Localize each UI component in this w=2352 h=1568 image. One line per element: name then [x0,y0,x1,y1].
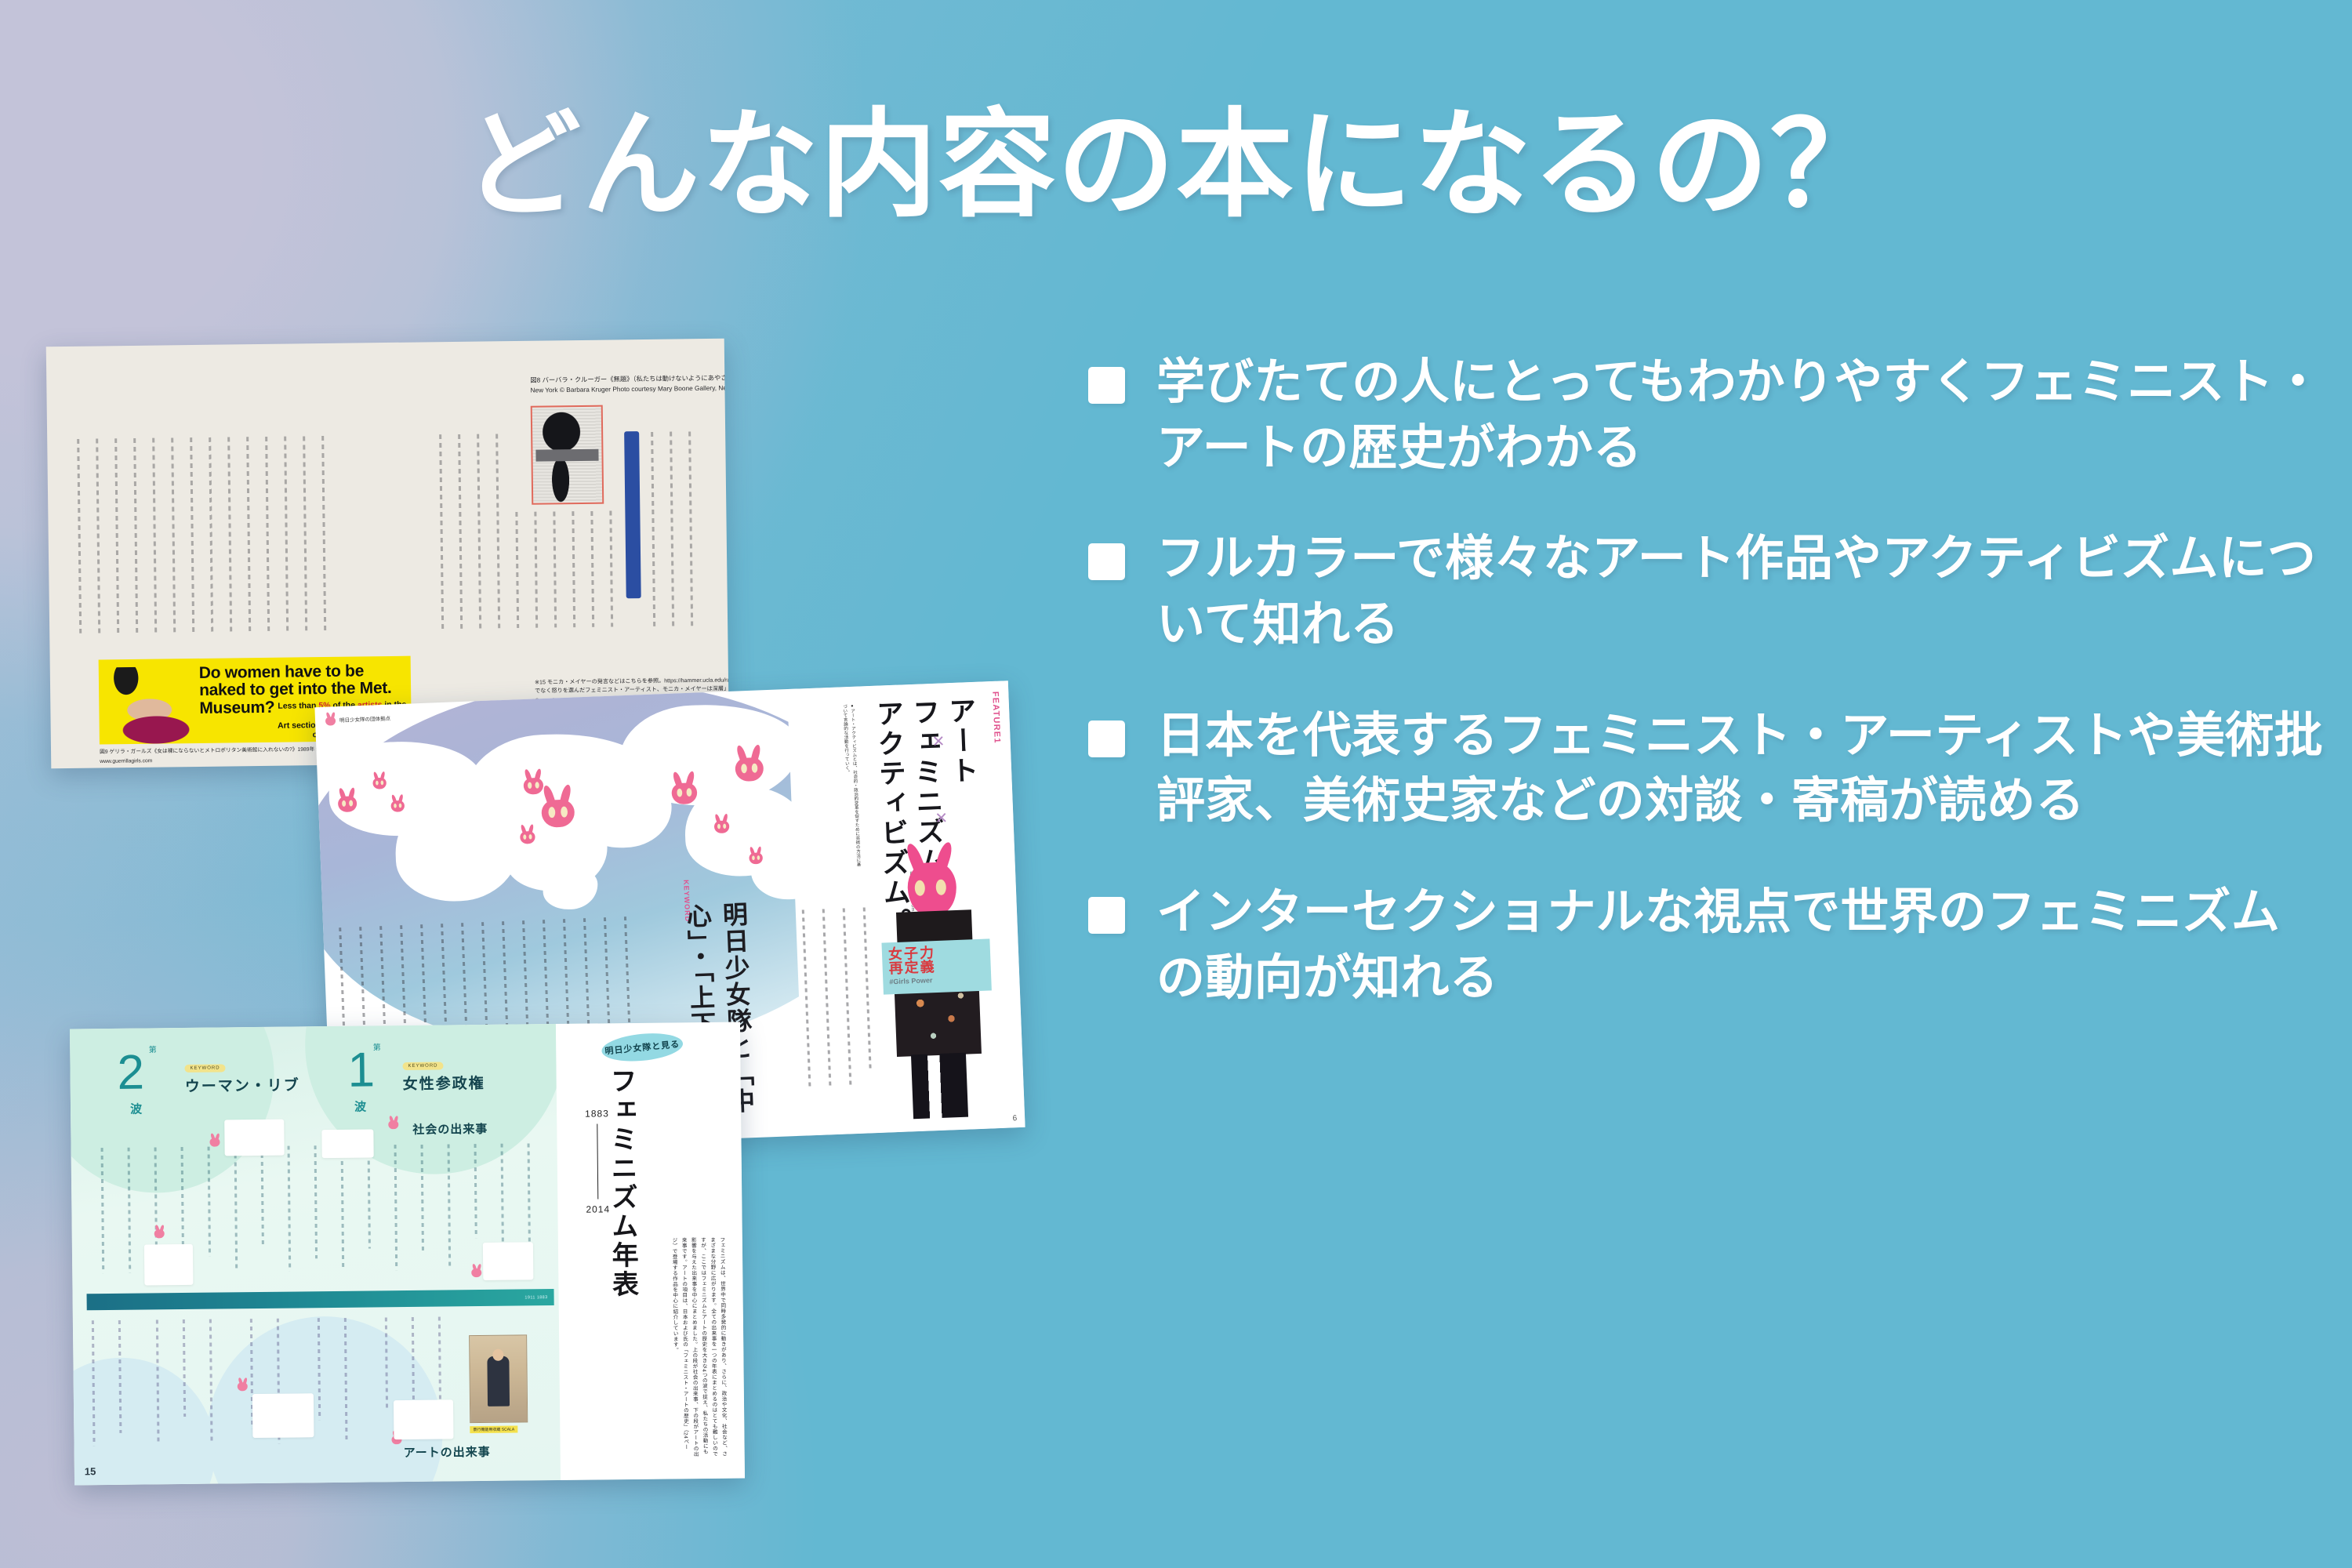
wave2-dai-label: 第 [145,1045,157,1053]
bullet-text: フルカラーで様々なアート作品やアクティビズムについて知れる [1156,526,2325,657]
axis-year-labels: 1911 1883 [524,1295,547,1300]
protest-placard: 女子力再定義 #Girls Power [881,938,991,994]
timeline-axis: 1911 1883 [87,1289,554,1310]
feature-cover-page: FEATURE1 アートフェミニズムアクティビズム。 × × ●アート・アクティ… [787,681,1025,1135]
bunny-marker-icon [668,773,701,808]
wave2-number: 2 [117,1052,144,1094]
list-item: 学びたての人にとってもわかりやすくフェミニスト・アートの歴史がわかる [1088,350,2335,481]
timeline-year-range: 1883 2014 [585,1108,610,1214]
kruger-artwork-image [531,405,604,505]
page-title: どんな内容の本になるの？ [0,100,2352,230]
subline-part-1: Less than [278,701,318,711]
timeline-left-page: 第 2 波 KEYWORD ウーマン・リブ 第 1 波 KEYWORD 女性参政… [70,1024,561,1485]
timeline-year-start: 1883 [585,1108,609,1119]
bullet-square-icon [1088,543,1125,580]
bunny-marker-icon [154,1225,165,1239]
timeline-right-page: 明日少女隊と見る フェミニズム年表 1883 2014 フェミニズムは、世界中で… [556,1022,745,1480]
bunny-marker-icon [517,826,537,847]
bunny-marker-icon [747,848,764,866]
timeline-year-end: 2014 [586,1203,610,1214]
slide-canvas: どんな内容の本になるの？ 図8 バーバラ・クルーガー《無題》（私たちは動けないよ… [0,0,2352,1568]
page-number: 6 [1012,1114,1017,1123]
bunny-marker-icon [237,1378,249,1392]
artwork-caption: 図8 バーバラ・クルーガー《無題》（私たちは動けないようにあやされてきた）198… [530,371,729,396]
wave2-keyword-tag: KEYWORD [184,1064,225,1073]
painting-credit: 景行機能用収蔵 SCALA [470,1426,517,1434]
bullet-square-icon [1088,897,1125,934]
cover-title-line-1: アート [944,696,978,786]
wave2-ha-label: 波 [130,1101,142,1117]
wave1-number: 1 [347,1049,375,1091]
placard-line-2: 再定義 [888,959,936,976]
bunny-marker-icon [387,1116,399,1130]
book-spread-timeline: 第 2 波 KEYWORD ウーマン・リブ 第 1 波 KEYWORD 女性参政… [70,1022,745,1486]
wave1-ha-label: 波 [354,1098,366,1115]
timeline-badge: 明日少女隊と見る [601,1030,684,1065]
bullet-text: インターセクショナルな視点で世界のフェミニズムの動向が知れる [1156,880,2325,1011]
map-legend-label: 明日少女隊の団体拠点 [339,713,390,723]
section-label-society: 社会の出来事 [412,1120,488,1138]
bullet-square-icon [1088,720,1125,757]
bullet-list: 学びたての人にとってもわかりやすくフェミニスト・アートの歴史がわかる フルカラー… [1088,350,2335,1057]
cross-mark-icon: × [935,805,948,830]
timeline-intro-text: フェミニズムは、世界中で同時多発的に動きがあり、さらに、政治や文化、社会など、さ… [566,1237,728,1458]
feature-lead-text: ●アート・アクティビズムとは、社会的・政治的変革を促すために芸術の方法に基づいて… [810,704,862,870]
bunny-marker-icon [470,1265,482,1278]
bunny-marker-icon [371,772,388,791]
bunny-marker-icon [325,713,337,727]
bunny-marker-icon [389,795,406,814]
section-label-art: アートの出来事 [404,1443,491,1461]
bunny-marker-icon [209,1134,220,1147]
year-rule-divider [597,1123,598,1199]
wave1-keyword-tag: KEYWORD [402,1062,443,1071]
bunny-marker-icon [335,789,359,815]
bunny-marker-icon [731,746,768,786]
bunny-mask-person-photo: 女子力再定義 #Girls Power [879,861,993,1120]
wave1-keyword: 女性参政権 [403,1072,485,1094]
map-legend: 明日少女隊の団体拠点 [325,711,391,727]
feature-badge: FEATURE1 [990,691,1002,744]
list-item: フルカラーで様々なアート作品やアクティビズムについて知れる [1088,526,2335,657]
wave2-keyword: ウーマン・リブ [185,1073,300,1096]
page-number: 15 [85,1465,96,1477]
bunny-marker-icon [536,786,579,832]
bullet-square-icon [1088,367,1125,404]
historical-painting-image [469,1334,528,1423]
bullet-text: 学びたての人にとってもわかりやすくフェミニスト・アートの歴史がわかる [1156,350,2325,481]
blue-accent-bar [624,431,641,598]
bullet-text: 日本を代表するフェミニスト・アーティストや美術批評家、美術史家などの対談・寄稿が… [1156,703,2325,834]
list-item: インターセクショナルな視点で世界のフェミニズムの動向が知れる [1088,880,2335,1011]
list-item: 日本を代表するフェミニスト・アーティストや美術批評家、美術史家などの対談・寄稿が… [1088,703,2335,834]
cross-mark-icon: × [932,728,945,753]
bunny-marker-icon [712,815,731,836]
placard-text-jp: 女子力再定義 [888,944,985,976]
gorilla-mask-figure [99,666,205,745]
